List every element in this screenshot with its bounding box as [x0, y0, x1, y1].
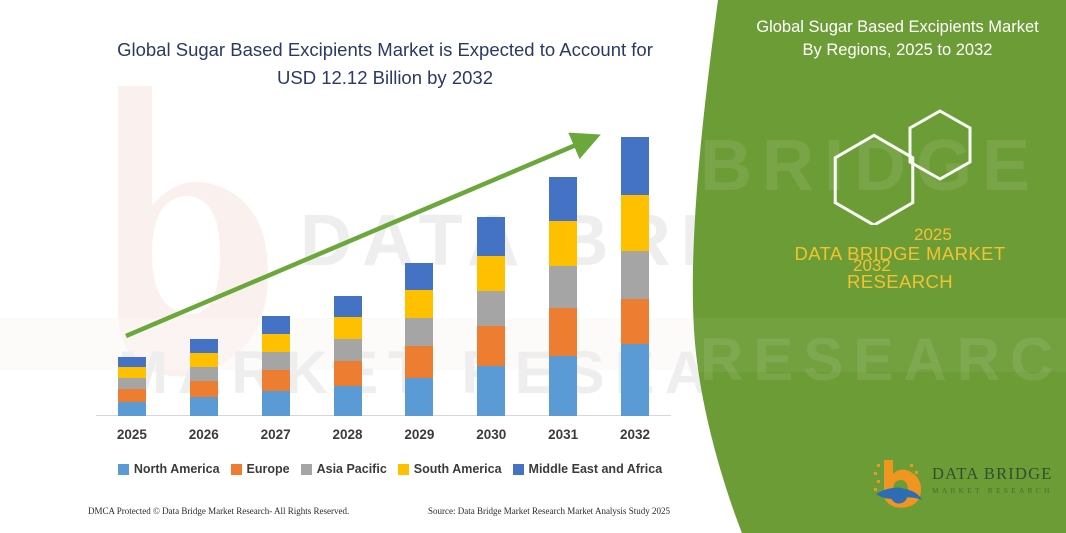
hexagon-2032-shape: [835, 135, 913, 225]
bar-segment: [477, 256, 505, 291]
bar-column-2031: [549, 177, 577, 416]
bar-segment: [405, 318, 433, 346]
bar-segment: [190, 397, 218, 416]
x-axis-label-2027: 2027: [241, 427, 311, 442]
hexagon-group: 2032 2025: [800, 95, 1030, 225]
bar-column-2026: [190, 339, 218, 416]
bar-segment: [334, 339, 362, 361]
bar-column-2025: [118, 357, 146, 416]
bar-segment: [405, 346, 433, 378]
chart-legend: North AmericaEuropeAsia PacificSouth Ame…: [100, 462, 680, 476]
legend-label: North America: [134, 462, 220, 476]
footer-source: Source: Data Bridge Market Research Mark…: [428, 506, 670, 516]
legend-item[interactable]: North America: [118, 462, 220, 476]
bar-segment: [334, 361, 362, 386]
bar-segment: [549, 177, 577, 221]
bar-segment: [334, 317, 362, 339]
bar-segment: [334, 296, 362, 317]
legend-item[interactable]: Middle East and Africa: [513, 462, 663, 476]
footer-copyright: DMCA Protected © Data Bridge Market Rese…: [88, 506, 349, 516]
chart-title: Global Sugar Based Excipients Market is …: [75, 36, 695, 92]
dbmr-logo-subtitle: MARKET RESEARCH: [932, 486, 1053, 495]
bar-segment: [118, 367, 146, 378]
panel-title-line-2: By Regions, 2025 to 2032: [735, 39, 1060, 62]
bar-segment: [477, 366, 505, 416]
bar-segment: [405, 263, 433, 290]
hexagon-2025-shape: [910, 111, 970, 179]
bar-segment: [190, 367, 218, 381]
bar-segment: [405, 378, 433, 416]
hexagon-shapes: [800, 95, 1030, 225]
bar-segment: [621, 137, 649, 195]
bar-segment: [118, 357, 146, 367]
legend-label: Europe: [247, 462, 290, 476]
bar-segment: [549, 221, 577, 266]
bar-segment: [405, 290, 433, 318]
bar-segment: [621, 344, 649, 416]
legend-swatch: [118, 464, 129, 475]
legend-label: Asia Pacific: [317, 462, 387, 476]
brand-name: DATA BRIDGE MARKET RESEARCH: [745, 240, 1055, 296]
bar-segment: [190, 353, 218, 367]
bar-segment: [477, 217, 505, 256]
bar-segment: [262, 316, 290, 334]
bar-segment: [621, 299, 649, 344]
bar-segment: [262, 352, 290, 370]
bar-segment: [262, 370, 290, 391]
bar-segment: [190, 339, 218, 353]
x-axis-label-2026: 2026: [169, 427, 239, 442]
dbmr-logo-title: DATA BRIDGE: [932, 464, 1053, 484]
bar-column-2029: [405, 263, 433, 416]
bar-chart-plot: [96, 100, 671, 416]
bar-segment: [477, 326, 505, 366]
legend-swatch: [398, 464, 409, 475]
brand-name-line-2: RESEARCH: [847, 271, 953, 292]
legend-label: Middle East and Africa: [529, 462, 663, 476]
bar-column-2030: [477, 217, 505, 416]
x-axis-label-2031: 2031: [528, 427, 598, 442]
x-axis-label-2025: 2025: [97, 427, 167, 442]
bar-column-2028: [334, 296, 362, 416]
bar-segment: [477, 291, 505, 326]
bar-segment: [118, 402, 146, 416]
bar-segment: [262, 334, 290, 352]
brand-name-line-1: DATA BRIDGE MARKET: [794, 243, 1005, 264]
x-axis-label-2028: 2028: [313, 427, 383, 442]
infographic-canvas: DATA BRIDGE MARKET RESEARCH BRIDGE RESEA…: [0, 0, 1066, 533]
bar-segment: [549, 356, 577, 416]
bar-segment: [262, 391, 290, 416]
legend-swatch: [231, 464, 242, 475]
legend-item[interactable]: Asia Pacific: [301, 462, 387, 476]
panel-title: Global Sugar Based Excipients Market By …: [735, 16, 1060, 62]
bar-segment: [549, 266, 577, 308]
x-axis-label-2030: 2030: [456, 427, 526, 442]
bar-segment: [621, 251, 649, 299]
bar-segment: [118, 389, 146, 402]
chart-title-line-1: Global Sugar Based Excipients Market is …: [75, 36, 695, 64]
panel-title-line-1: Global Sugar Based Excipients Market: [735, 16, 1060, 39]
bar-column-2032: [621, 137, 649, 416]
x-axis-label-2029: 2029: [384, 427, 454, 442]
x-axis-label-2032: 2032: [600, 427, 670, 442]
bar-segment: [621, 195, 649, 251]
bar-segment: [190, 381, 218, 397]
legend-swatch: [301, 464, 312, 475]
bar-segment: [334, 386, 362, 416]
legend-swatch: [513, 464, 524, 475]
bar-column-2027: [262, 316, 290, 416]
chart-title-line-2: USD 12.12 Billion by 2032: [75, 64, 695, 92]
bar-segment: [549, 308, 577, 356]
legend-item[interactable]: Europe: [231, 462, 290, 476]
legend-label: South America: [414, 462, 502, 476]
bar-segment: [118, 378, 146, 389]
dbmr-logo-mark: [872, 458, 928, 508]
dbmr-logo: DATA BRIDGE MARKET RESEARCH: [872, 458, 1058, 510]
legend-item[interactable]: South America: [398, 462, 502, 476]
